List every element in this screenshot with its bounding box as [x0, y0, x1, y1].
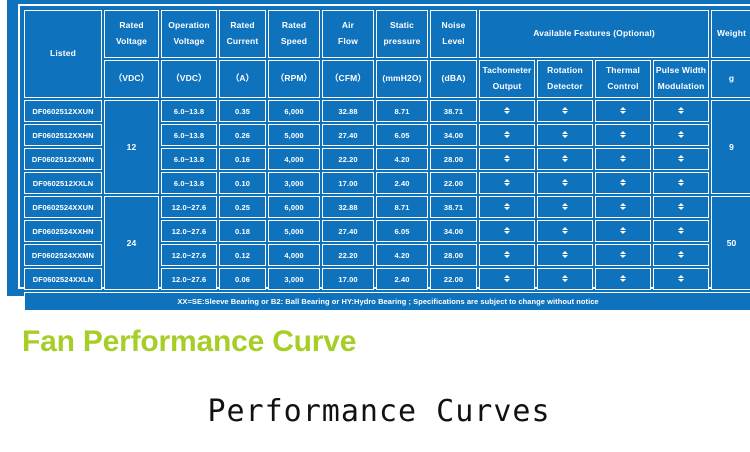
diamond-marker-icon [620, 272, 626, 278]
diamond-marker-icon [562, 152, 568, 158]
cell-air-flow: 22.20 [322, 148, 374, 170]
diamond-marker-icon [562, 104, 568, 110]
diamond-marker-icon [678, 104, 684, 110]
table-row: DF0602524XXUN2412.0~27.60.256,00032.888.… [24, 196, 750, 218]
cell-operation-voltage: 6.0~13.8 [161, 100, 217, 122]
cell-listed-model: DF0602524XXLN [24, 268, 102, 290]
diamond-marker-icon [562, 272, 568, 278]
cell-operation-voltage: 6.0~13.8 [161, 172, 217, 194]
cell-static-pressure: 8.71 [376, 100, 428, 122]
col-header-air-flow: Air Flow [322, 10, 374, 58]
cell-feature-tachometer-output [479, 100, 535, 122]
performance-curve-subline [0, 437, 750, 447]
cell-air-flow: 17.00 [322, 268, 374, 290]
diamond-marker-icon [678, 200, 684, 206]
cell-air-flow: 22.20 [322, 244, 374, 266]
diamond-marker-icon [504, 152, 510, 158]
cell-listed-model: DF0602512XXLN [24, 172, 102, 194]
cell-feature-pulse-width-modulation [653, 124, 709, 146]
cell-feature-thermal-control [595, 220, 651, 242]
feature-header-thermal-control: Thermal Control [595, 60, 651, 98]
cell-feature-rotation-detector [537, 172, 593, 194]
diamond-marker-icon [504, 104, 510, 110]
spec-table-frame: Listed Rated Voltage Operation Voltage R… [18, 4, 750, 289]
cell-feature-rotation-detector [537, 100, 593, 122]
cell-listed-model: DF0602524XXHN [24, 220, 102, 242]
header-row-top: Listed Rated Voltage Operation Voltage R… [24, 10, 750, 58]
table-row: DF0602512XXUN126.0~13.80.356,00032.888.7… [24, 100, 750, 122]
cell-feature-rotation-detector [537, 196, 593, 218]
diamond-marker-icon [620, 200, 626, 206]
cell-feature-thermal-control [595, 124, 651, 146]
cell-air-flow: 27.40 [322, 124, 374, 146]
cell-weight: 9 [711, 100, 750, 194]
cell-feature-pulse-width-modulation [653, 244, 709, 266]
col-header-operation-voltage: Operation Voltage [161, 10, 217, 58]
diamond-marker-icon [620, 152, 626, 158]
feature-header-tachometer-output: Tachometer Output [479, 60, 535, 98]
cell-operation-voltage: 6.0~13.8 [161, 124, 217, 146]
cell-noise-level: 38.71 [430, 100, 477, 122]
cell-feature-rotation-detector [537, 148, 593, 170]
page-title: Fan Performance Curve [22, 327, 356, 357]
cell-feature-rotation-detector [537, 124, 593, 146]
diamond-marker-icon [504, 128, 510, 134]
unit-header-weight: g [711, 60, 750, 98]
diamond-marker-icon [562, 176, 568, 182]
diamond-marker-icon [620, 248, 626, 254]
cell-rated-current: 0.35 [219, 100, 266, 122]
cell-air-flow: 32.88 [322, 196, 374, 218]
cell-rated-current: 0.10 [219, 172, 266, 194]
diamond-marker-icon [678, 176, 684, 182]
cell-rated-current: 0.06 [219, 268, 266, 290]
diamond-marker-icon [678, 224, 684, 230]
cell-listed-model: DF0602512XXUN [24, 100, 102, 122]
cell-operation-voltage: 6.0~13.8 [161, 148, 217, 170]
cell-listed-model: DF0602524XXUN [24, 196, 102, 218]
header-row-units: （VDC） （VDC） （A） （RPM） （CFM） (mmH2O) (dBA… [24, 60, 750, 98]
cell-static-pressure: 6.05 [376, 220, 428, 242]
cell-feature-tachometer-output [479, 268, 535, 290]
diamond-marker-icon [620, 224, 626, 230]
cell-feature-pulse-width-modulation [653, 196, 709, 218]
cell-operation-voltage: 12.0~27.6 [161, 244, 217, 266]
cell-rated-speed: 5,000 [268, 220, 320, 242]
cell-noise-level: 34.00 [430, 124, 477, 146]
cell-air-flow: 27.40 [322, 220, 374, 242]
cell-feature-tachometer-output [479, 196, 535, 218]
cell-static-pressure: 4.20 [376, 244, 428, 266]
cell-feature-thermal-control [595, 244, 651, 266]
cell-feature-pulse-width-modulation [653, 220, 709, 242]
cell-feature-tachometer-output [479, 220, 535, 242]
diamond-marker-icon [678, 128, 684, 134]
performance-curve-panel: Performance Curves [0, 396, 750, 452]
feature-header-pulse-width-modulation: Pulse Width Modulation [653, 60, 709, 98]
cell-rated-speed: 3,000 [268, 268, 320, 290]
cell-rated-speed: 4,000 [268, 244, 320, 266]
col-header-static-pressure: Static pressure [376, 10, 428, 58]
footnote-text: XX=SE:Sleeve Bearing or B2: Ball Bearing… [24, 292, 750, 311]
table-header: Listed Rated Voltage Operation Voltage R… [24, 10, 750, 98]
cell-feature-thermal-control [595, 148, 651, 170]
col-header-rated-current: Rated Current [219, 10, 266, 58]
cell-feature-pulse-width-modulation [653, 172, 709, 194]
cell-rated-speed: 4,000 [268, 148, 320, 170]
cell-rated-voltage: 24 [104, 196, 159, 290]
cell-feature-pulse-width-modulation [653, 148, 709, 170]
diamond-marker-icon [504, 272, 510, 278]
diamond-marker-icon [504, 248, 510, 254]
feature-header-rotation-detector: Rotation Detector [537, 60, 593, 98]
cell-operation-voltage: 12.0~27.6 [161, 268, 217, 290]
cell-noise-level: 28.00 [430, 148, 477, 170]
cell-operation-voltage: 12.0~27.6 [161, 220, 217, 242]
cell-static-pressure: 6.05 [376, 124, 428, 146]
cell-rated-current: 0.26 [219, 124, 266, 146]
cell-weight: 50 [711, 196, 750, 290]
col-header-noise-level: Noise Level [430, 10, 477, 58]
cell-listed-model: DF0602524XXMN [24, 244, 102, 266]
cell-air-flow: 17.00 [322, 172, 374, 194]
table-footer: XX=SE:Sleeve Bearing or B2: Ball Bearing… [24, 292, 750, 311]
unit-header-rated-speed: （RPM） [268, 60, 320, 98]
cell-rated-current: 0.18 [219, 220, 266, 242]
diamond-marker-icon [562, 248, 568, 254]
unit-header-air-flow: （CFM） [322, 60, 374, 98]
diamond-marker-icon [620, 104, 626, 110]
diamond-marker-icon [562, 224, 568, 230]
cell-static-pressure: 2.40 [376, 268, 428, 290]
table-body: DF0602512XXUN126.0~13.80.356,00032.888.7… [24, 100, 750, 290]
cell-feature-tachometer-output [479, 172, 535, 194]
cell-operation-voltage: 12.0~27.6 [161, 196, 217, 218]
cell-static-pressure: 2.40 [376, 172, 428, 194]
unit-header-rated-current: （A） [219, 60, 266, 98]
cell-rated-current: 0.12 [219, 244, 266, 266]
cell-feature-pulse-width-modulation [653, 100, 709, 122]
cell-rated-speed: 5,000 [268, 124, 320, 146]
diamond-marker-icon [562, 200, 568, 206]
fan-specification-table: Listed Rated Voltage Operation Voltage R… [22, 8, 750, 313]
cell-rated-speed: 6,000 [268, 196, 320, 218]
diamond-marker-icon [504, 176, 510, 182]
cell-static-pressure: 4.20 [376, 148, 428, 170]
diamond-marker-icon [562, 128, 568, 134]
col-header-weight: Weight [711, 10, 750, 58]
col-header-rated-speed: Rated Speed [268, 10, 320, 58]
cell-feature-thermal-control [595, 172, 651, 194]
cell-rated-speed: 6,000 [268, 100, 320, 122]
diamond-marker-icon [678, 152, 684, 158]
unit-header-operation-voltage: （VDC） [161, 60, 217, 98]
cell-rated-current: 0.25 [219, 196, 266, 218]
cell-rated-current: 0.16 [219, 148, 266, 170]
cell-noise-level: 22.00 [430, 172, 477, 194]
diamond-marker-icon [678, 272, 684, 278]
performance-curve-title: Performance Curves [8, 396, 750, 428]
cell-noise-level: 22.00 [430, 268, 477, 290]
cell-feature-tachometer-output [479, 124, 535, 146]
cell-feature-thermal-control [595, 100, 651, 122]
spec-table-block: Listed Rated Voltage Operation Voltage R… [7, 0, 750, 296]
cell-feature-rotation-detector [537, 220, 593, 242]
diamond-marker-icon [620, 128, 626, 134]
cell-air-flow: 32.88 [322, 100, 374, 122]
cell-feature-tachometer-output [479, 244, 535, 266]
cell-static-pressure: 8.71 [376, 196, 428, 218]
cell-feature-thermal-control [595, 196, 651, 218]
cell-listed-model: DF0602512XXMN [24, 148, 102, 170]
col-header-available-features: Available Features (Optional) [479, 10, 709, 58]
diamond-marker-icon [504, 224, 510, 230]
cell-rated-speed: 3,000 [268, 172, 320, 194]
cell-rated-voltage: 12 [104, 100, 159, 194]
cell-noise-level: 34.00 [430, 220, 477, 242]
unit-header-rated-voltage: （VDC） [104, 60, 159, 98]
unit-header-static-pressure: (mmH2O) [376, 60, 428, 98]
cell-feature-rotation-detector [537, 268, 593, 290]
cell-listed-model: DF0602512XXHN [24, 124, 102, 146]
cell-feature-pulse-width-modulation [653, 268, 709, 290]
cell-noise-level: 38.71 [430, 196, 477, 218]
diamond-marker-icon [678, 248, 684, 254]
col-header-listed-model: Listed [24, 10, 102, 98]
diamond-marker-icon [504, 200, 510, 206]
footnote-row: XX=SE:Sleeve Bearing or B2: Ball Bearing… [24, 292, 750, 311]
cell-feature-tachometer-output [479, 148, 535, 170]
cell-feature-rotation-detector [537, 244, 593, 266]
cell-noise-level: 28.00 [430, 244, 477, 266]
unit-header-noise-level: (dBA) [430, 60, 477, 98]
col-header-rated-voltage: Rated Voltage [104, 10, 159, 58]
cell-feature-thermal-control [595, 268, 651, 290]
diamond-marker-icon [620, 176, 626, 182]
